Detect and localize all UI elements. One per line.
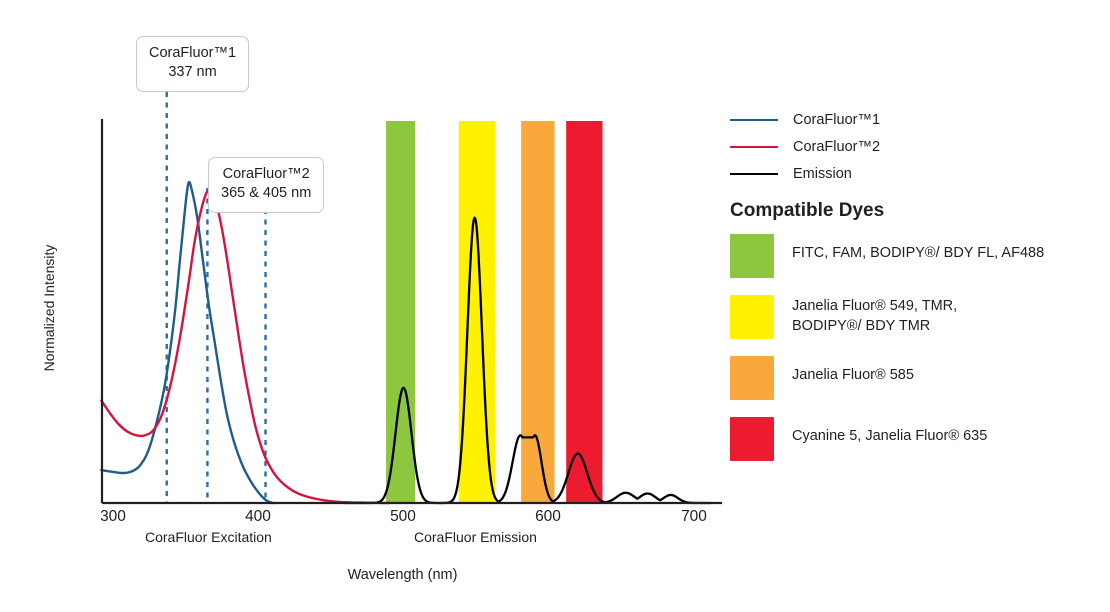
dye-color-swatch-orange bbox=[730, 356, 774, 400]
callout-corafluor-2: CoraFluor™2 365 & 405 nm bbox=[208, 157, 324, 213]
series-legend: CoraFluor™1 CoraFluor™2 Emission bbox=[730, 106, 1100, 187]
dye-label-red: Cyanine 5, Janelia Fluor® 635 bbox=[792, 417, 987, 447]
curve-corafluor1 bbox=[101, 182, 272, 503]
excitation-marker-lines-group bbox=[167, 92, 266, 503]
red-band bbox=[566, 121, 602, 503]
dye-label-green: FITC, FAM, BODIPY®/ BDY FL, AF488 bbox=[792, 234, 1044, 264]
axis-section-label-emission: CoraFluor Emission bbox=[414, 529, 537, 545]
callout-corafluor-2-line1: CoraFluor™2 bbox=[221, 165, 311, 184]
y-axis-title: Normalized Intensity bbox=[41, 218, 57, 398]
wavelength-bands-group bbox=[386, 121, 602, 503]
spectral-chart-page: CoraFluor™1 337 nm CoraFluor™2 365 & 405… bbox=[0, 0, 1110, 612]
x-axis-title: Wavelength (nm) bbox=[0, 567, 805, 583]
compatible-dyes-title: Compatible Dyes bbox=[730, 200, 884, 222]
legend-item-corafluor-1: CoraFluor™1 bbox=[730, 106, 1100, 133]
dye-color-swatch-green bbox=[730, 234, 774, 278]
yellow-band bbox=[459, 121, 495, 503]
legend-line-swatch-corafluor-2 bbox=[730, 146, 778, 148]
dye-label-orange: Janelia Fluor® 585 bbox=[792, 356, 914, 386]
x-tick-label-600: 600 bbox=[518, 508, 578, 526]
dye-item-green: FITC, FAM, BODIPY®/ BDY FL, AF488 bbox=[730, 234, 1105, 278]
curve-corafluor2 bbox=[101, 191, 389, 503]
callout-corafluor-1: CoraFluor™1 337 nm bbox=[136, 36, 249, 92]
legend-item-emission: Emission bbox=[730, 160, 1100, 187]
callout-corafluor-1-line2: 337 nm bbox=[149, 63, 236, 82]
x-tick-label-500: 500 bbox=[373, 508, 433, 526]
callout-corafluor-1-line1: CoraFluor™1 bbox=[149, 44, 236, 63]
legend-line-swatch-corafluor-1 bbox=[730, 119, 778, 121]
axis-section-label-excitation: CoraFluor Excitation bbox=[145, 529, 272, 545]
legend-label-corafluor-2: CoraFluor™2 bbox=[793, 139, 880, 155]
dye-color-swatch-red bbox=[730, 417, 774, 461]
dye-color-swatch-yellow bbox=[730, 295, 774, 339]
dye-label-yellow: Janelia Fluor® 549, TMR, BODIPY®/ BDY TM… bbox=[792, 295, 957, 336]
legend-item-corafluor-2: CoraFluor™2 bbox=[730, 133, 1100, 160]
legend-label-emission: Emission bbox=[793, 166, 852, 182]
callout-corafluor-2-line2: 365 & 405 nm bbox=[221, 184, 311, 203]
green-band bbox=[386, 121, 415, 503]
dye-item-orange: Janelia Fluor® 585 bbox=[730, 356, 1105, 400]
x-tick-label-700: 700 bbox=[664, 508, 724, 526]
dye-item-yellow: Janelia Fluor® 549, TMR, BODIPY®/ BDY TM… bbox=[730, 295, 1105, 339]
x-tick-label-300: 300 bbox=[83, 508, 143, 526]
legend-line-swatch-emission bbox=[730, 173, 778, 175]
dye-item-red: Cyanine 5, Janelia Fluor® 635 bbox=[730, 417, 1105, 461]
x-tick-label-400: 400 bbox=[228, 508, 288, 526]
compatible-dyes-list: FITC, FAM, BODIPY®/ BDY FL, AF488 Janeli… bbox=[730, 234, 1105, 478]
legend-label-corafluor-1: CoraFluor™1 bbox=[793, 112, 880, 128]
